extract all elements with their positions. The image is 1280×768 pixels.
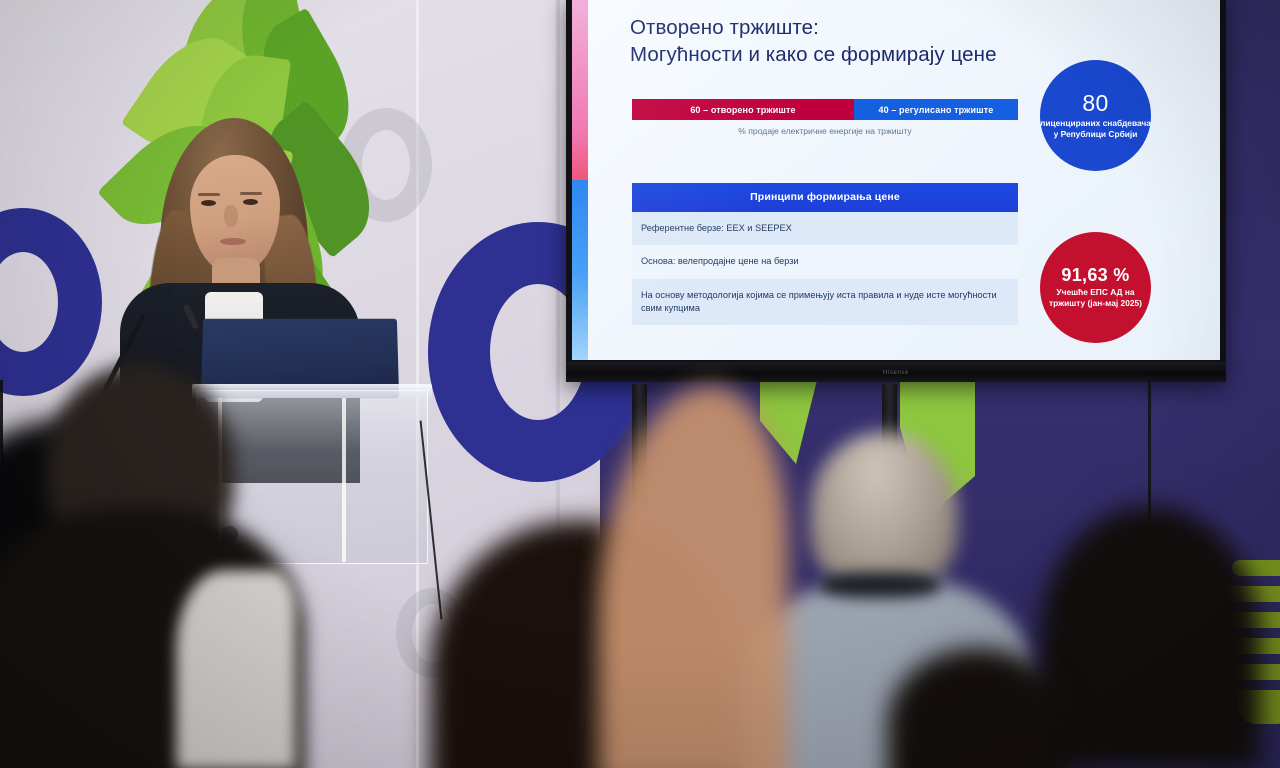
stat-value: 80 — [1082, 92, 1108, 115]
tv-screen: Отворено тржиште: Могућности и како се ф… — [572, 0, 1220, 360]
audience-member-collar-3 — [820, 572, 940, 598]
podium-edge-right — [342, 398, 346, 562]
presenter-mouth — [220, 238, 246, 245]
slide-title: Отворено тржиште: Могућности и како се ф… — [630, 14, 1110, 69]
audience-member-head-3 — [810, 432, 958, 592]
display-tv: Отворено тржиште: Могућности и како се ф… — [566, 0, 1226, 382]
presenter-brow-left — [198, 193, 220, 196]
tv-brand-logo: Hisense — [883, 370, 909, 376]
bar-caption: % продаје електричне енергије на тржишту — [632, 126, 1018, 136]
stat-circle-suppliers: 80 лиценцираних снабдевача у Републици С… — [1040, 60, 1151, 171]
slide-accent-stripe — [572, 0, 588, 360]
table-row: На основу методологија којима се примењу… — [632, 279, 1018, 326]
table-row: Референтне берзе: EEX и SEEPEX — [632, 212, 1018, 245]
bar-segment-open-market: 60 – отворено тржиште — [632, 99, 854, 120]
table-row: Основа: велепродајне цене на берзи — [632, 245, 1018, 278]
presenter-eye-right — [243, 199, 258, 205]
presentation-slide: Отворено тржиште: Могућности и како се ф… — [572, 0, 1220, 360]
stat-value: 91,63 % — [1061, 266, 1129, 284]
presenter-nose — [224, 205, 238, 227]
market-split-bar: 60 – отворено тржиште 40 – регулисано тр… — [632, 99, 1018, 120]
screenshot-root: Отворено тржиште: Могућности и како се ф… — [0, 0, 1280, 768]
audience-member-collar-1 — [176, 570, 296, 768]
bar-segment-regulated-market: 40 – регулисано тржиште — [854, 99, 1018, 120]
presenter-brow-right — [240, 192, 262, 195]
stat-circle-eps-share: 91,63 % Учешће ЕПС АД на тржишту (јан-ма… — [1040, 232, 1151, 343]
stat-label: Учешће ЕПС АД на тржишту (јан-мај 2025) — [1040, 287, 1151, 309]
price-principles-table: Принципи формирања цене Референтне берзе… — [632, 183, 1018, 325]
tv-bottom-bezel: Hisense — [566, 362, 1226, 382]
table-header: Принципи формирања цене — [632, 183, 1018, 212]
slide-title-line-2: Могућности и како се формирају цене — [630, 41, 1110, 68]
presenter-eye-left — [201, 200, 216, 206]
stat-label: лиценцираних снабдевача у Републици Срби… — [1040, 118, 1151, 140]
audience-member-head-4 — [1040, 506, 1260, 768]
slide-title-line-1: Отворено тржиште: — [630, 14, 1110, 41]
